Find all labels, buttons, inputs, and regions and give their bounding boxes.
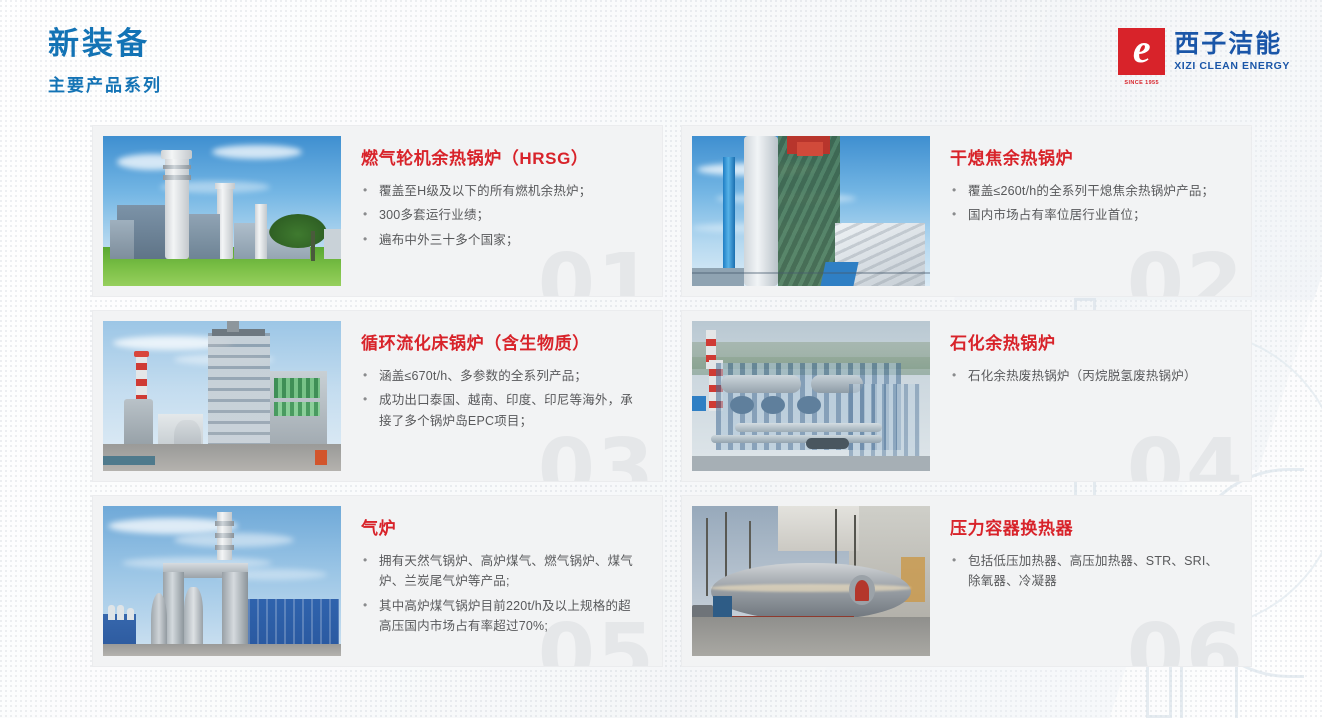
logo-e-glyph: e (1133, 29, 1151, 69)
slide-header: 新装备 主要产品系列 (48, 26, 162, 96)
list-item: 国内市场占有率位居行业首位； (950, 205, 1229, 225)
product-image (103, 321, 341, 471)
list-item: 石化余热废热锅炉（丙烷脱氢废热锅炉） (950, 366, 1229, 386)
product-bullet-list: 拥有天然气锅炉、高炉煤气、燃气锅炉、煤气炉、兰炭尾气炉等产品; 其中高炉煤气锅炉… (361, 551, 640, 636)
product-title: 干熄焦余热锅炉 (950, 144, 1229, 169)
product-image (103, 136, 341, 286)
xizi-e-mark-icon: e SINCE 1955 (1118, 28, 1165, 75)
list-item: 遍布中外三十多个国家； (361, 230, 640, 250)
product-bullet-list: 涵盖≤670t/h、多参数的全系列产品； 成功出口泰国、越南、印度、印尼等海外，… (361, 366, 640, 431)
company-logo: e SINCE 1955 西子洁能 XIZI CLEAN ENERGY (1118, 28, 1290, 75)
product-bullet-list: 覆盖至H级及以下的所有燃机余热炉； 300多套运行业绩； 遍布中外三十多个国家； (361, 181, 640, 250)
product-card[interactable]: 02 干熄焦余热锅炉 覆盖≤260t/h的全系列干熄焦余热锅炉产品； 国内市场占… (681, 125, 1252, 297)
product-text-block: 干熄焦余热锅炉 覆盖≤260t/h的全系列干熄焦余热锅炉产品； 国内市场占有率位… (930, 126, 1251, 296)
list-item: 覆盖≤260t/h的全系列干熄焦余热锅炉产品； (950, 181, 1229, 201)
product-card[interactable]: 01 燃气轮机余热锅炉（HRSG） 覆盖至H级及 (92, 125, 663, 297)
product-card[interactable]: 06 压力容器换热器 包括低压加热器、高压加热器 (681, 495, 1252, 667)
list-item: 覆盖至H级及以下的所有燃机余热炉； (361, 181, 640, 201)
product-text-block: 气炉 拥有天然气锅炉、高炉煤气、燃气锅炉、煤气炉、兰炭尾气炉等产品; 其中高炉煤… (341, 496, 662, 666)
list-item: 包括低压加热器、高压加热器、STR、SRI、除氧器、冷凝器 (950, 551, 1229, 592)
product-bullet-list: 包括低压加热器、高压加热器、STR、SRI、除氧器、冷凝器 (950, 551, 1229, 592)
product-bullet-list: 石化余热废热锅炉（丙烷脱氢废热锅炉） (950, 366, 1229, 386)
product-title: 气炉 (361, 514, 640, 539)
product-bullet-list: 覆盖≤260t/h的全系列干熄焦余热锅炉产品； 国内市场占有率位居行业首位； (950, 181, 1229, 226)
product-image (103, 506, 341, 656)
product-text-block: 石化余热锅炉 石化余热废热锅炉（丙烷脱氢废热锅炉） (930, 311, 1251, 481)
logo-name-en: XIZI CLEAN ENERGY (1174, 61, 1290, 72)
product-card-grid: 01 燃气轮机余热锅炉（HRSG） 覆盖至H级及 (92, 125, 1252, 667)
list-item: 涵盖≤670t/h、多参数的全系列产品； (361, 366, 640, 386)
product-image (692, 321, 930, 471)
product-image (692, 136, 930, 286)
product-text-block: 压力容器换热器 包括低压加热器、高压加热器、STR、SRI、除氧器、冷凝器 (930, 496, 1251, 666)
product-title: 压力容器换热器 (950, 514, 1229, 539)
page-title: 新装备 (48, 26, 162, 63)
logo-name-cn: 西子洁能 (1174, 32, 1290, 57)
logo-since-text: SINCE 1955 (1118, 80, 1165, 86)
product-card[interactable]: 03 循环流化床锅炉（含生物质） 涵盖≤670t/h、多参数的全系列产品； (92, 310, 663, 482)
list-item: 300多套运行业绩； (361, 205, 640, 225)
logo-wordmark: 西子洁能 XIZI CLEAN ENERGY (1174, 32, 1290, 72)
page-subtitle: 主要产品系列 (48, 71, 162, 96)
product-text-block: 循环流化床锅炉（含生物质） 涵盖≤670t/h、多参数的全系列产品； 成功出口泰… (341, 311, 662, 481)
product-title: 石化余热锅炉 (950, 329, 1229, 354)
list-item: 成功出口泰国、越南、印度、印尼等海外，承接了多个锅炉岛EPC项目； (361, 390, 640, 431)
product-title: 循环流化床锅炉（含生物质） (361, 329, 640, 354)
product-title: 燃气轮机余热锅炉（HRSG） (361, 144, 640, 169)
product-text-block: 燃气轮机余热锅炉（HRSG） 覆盖至H级及以下的所有燃机余热炉； 300多套运行… (341, 126, 662, 296)
list-item: 拥有天然气锅炉、高炉煤气、燃气锅炉、煤气炉、兰炭尾气炉等产品; (361, 551, 640, 592)
product-card[interactable]: 04 石化余热锅炉 石化余热废热锅炉（丙烷脱氢废热锅炉） (681, 310, 1252, 482)
product-image (692, 506, 930, 656)
list-item: 其中高炉煤气锅炉目前220t/h及以上规格的超高压国内市场占有率超过70%; (361, 596, 640, 637)
product-card[interactable]: 05 气炉 拥有天然气锅炉、高炉煤 (92, 495, 663, 667)
